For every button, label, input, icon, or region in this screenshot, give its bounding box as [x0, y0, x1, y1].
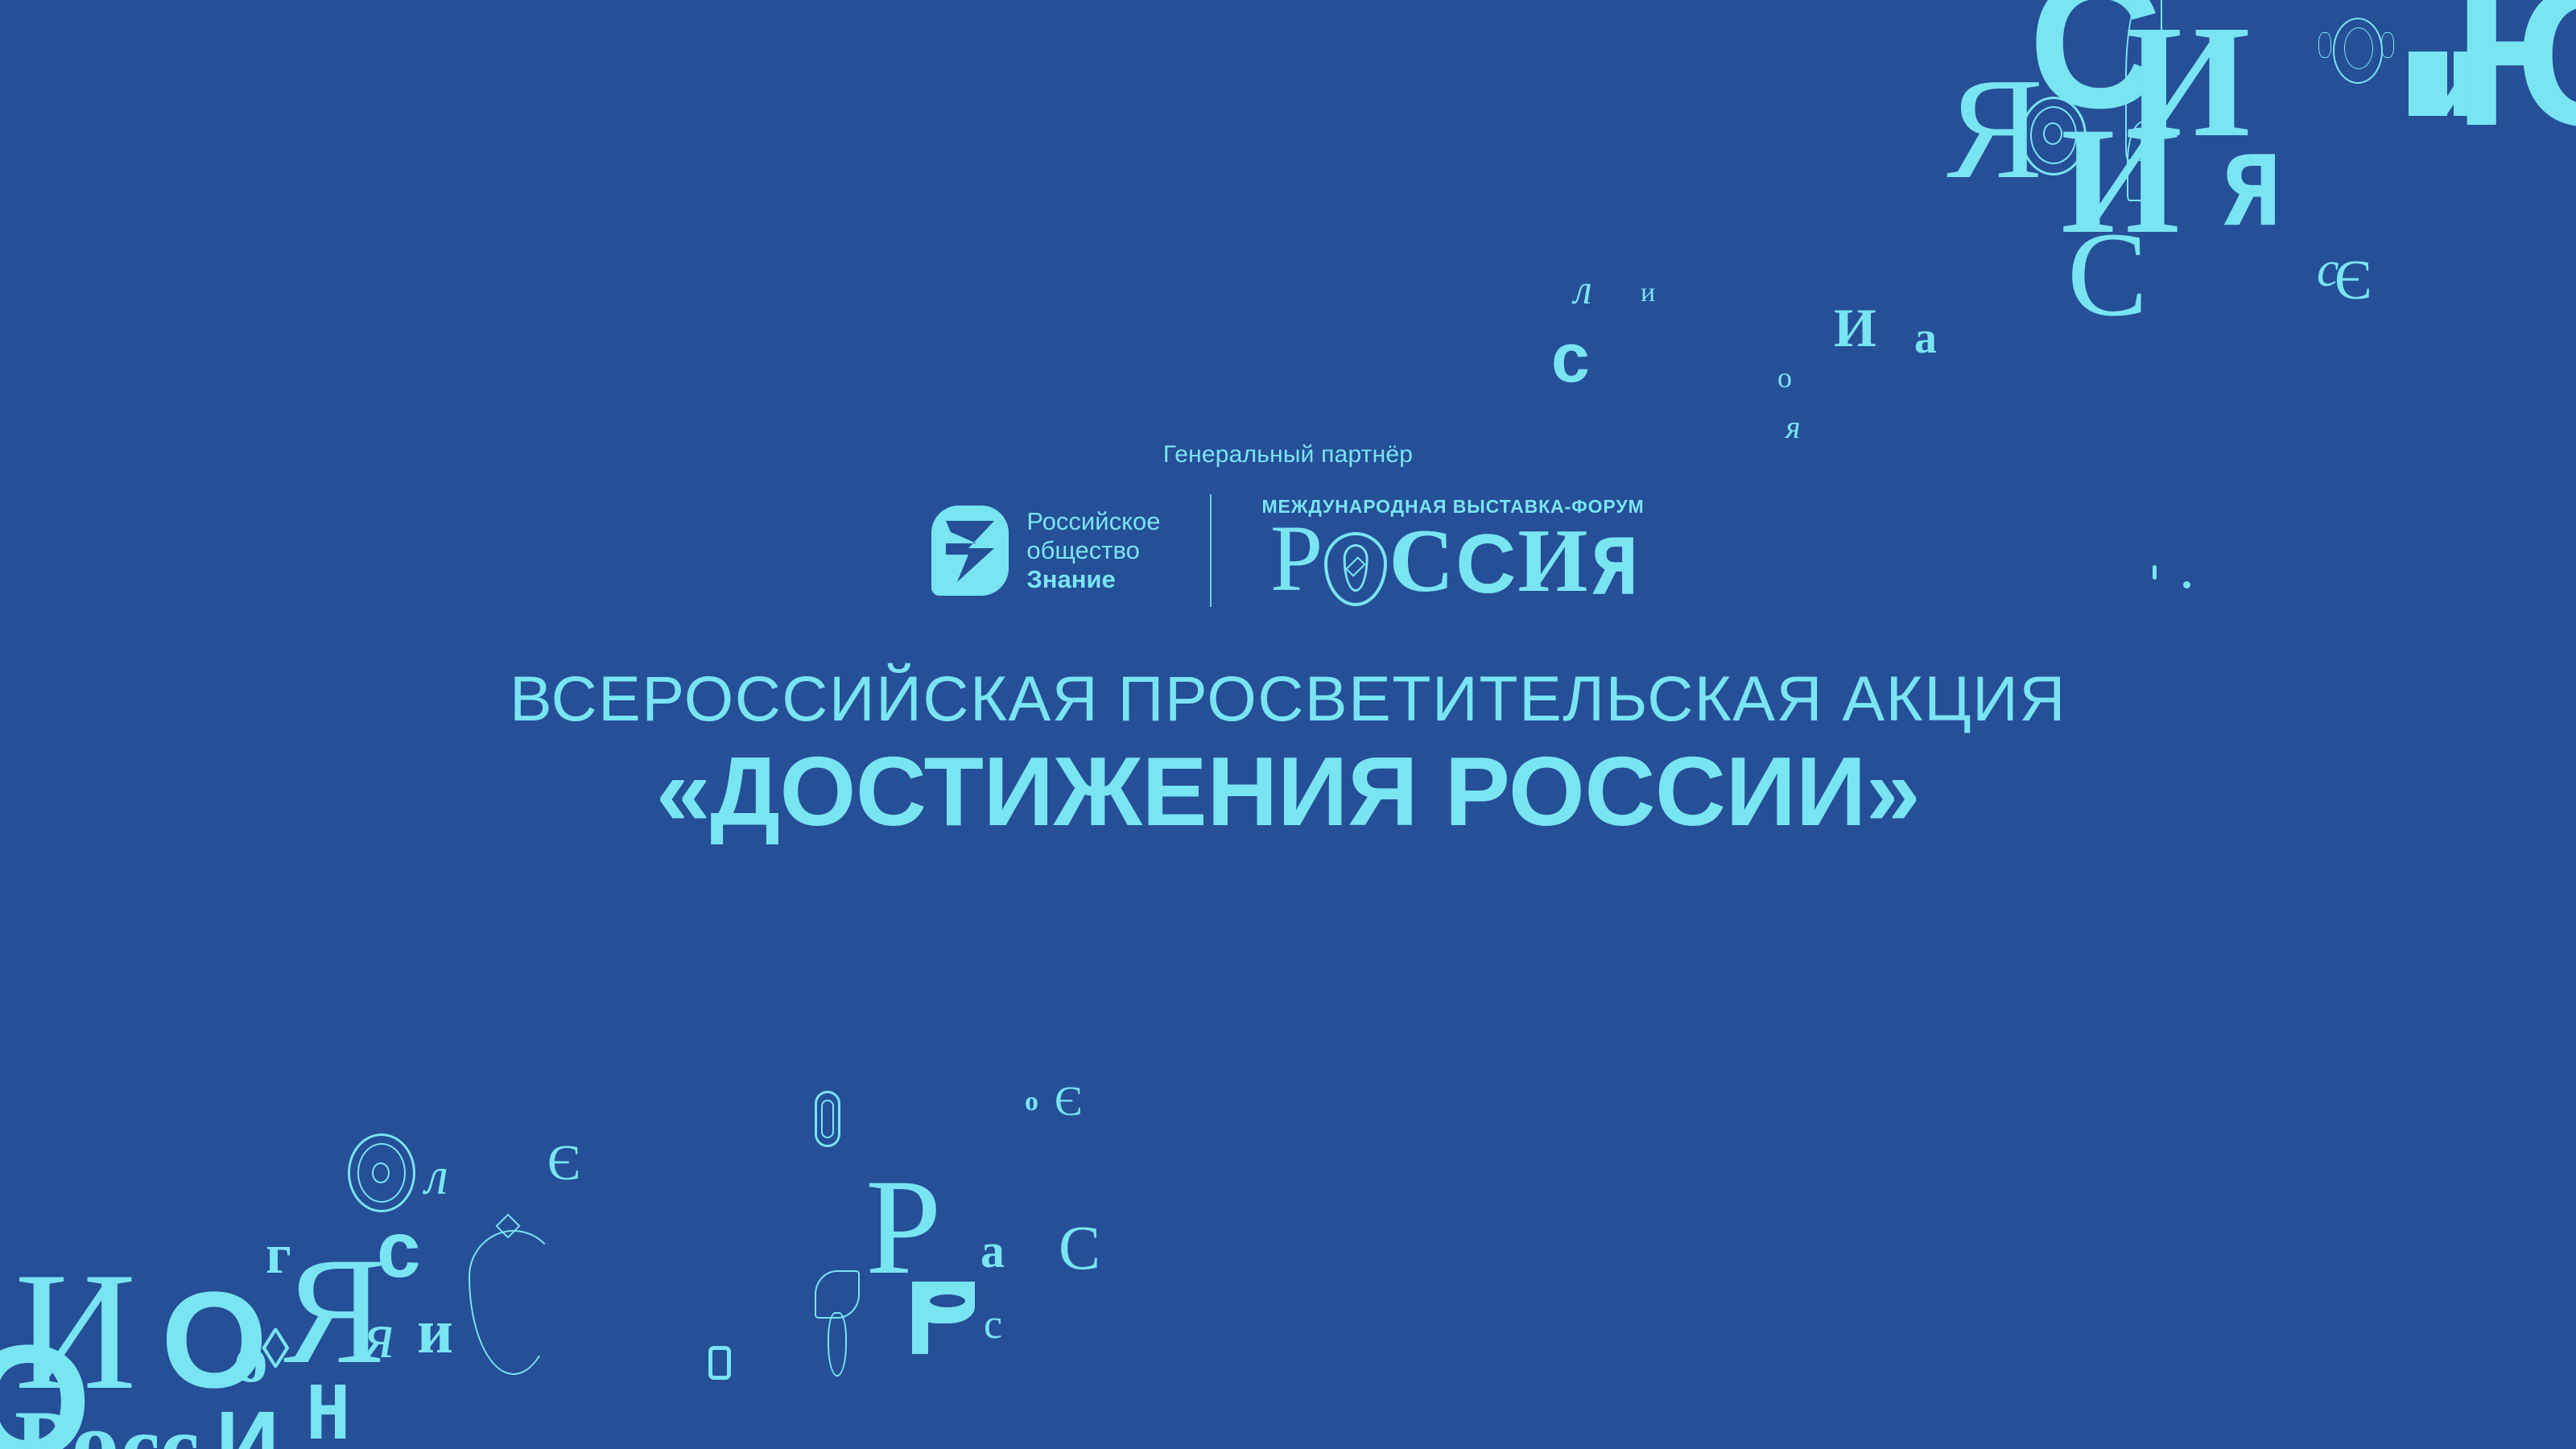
deco-square-o: [708, 1346, 731, 1380]
logo-divider: [1210, 494, 1212, 607]
poster-content: Генеральный партнёр Российское общество …: [0, 0, 2576, 843]
rossiya-ornate-o-icon: [1324, 532, 1387, 606]
deco-glyph-r-script: Р: [865, 1171, 942, 1283]
deco-glyph-l-bottomleft: л: [425, 1155, 448, 1199]
deco-glyph-s-bl-large: с: [377, 1217, 421, 1282]
deco-glyph-ya-bl-large: Я: [283, 1249, 386, 1375]
rossiya-letter-i: И: [1517, 516, 1587, 606]
deco-glyph-c-bottom: Є: [1055, 1085, 1082, 1120]
znanie-line-1: Российское: [1026, 507, 1160, 536]
deco-glyph-ss-edge: сс: [121, 1410, 200, 1449]
headline-block: ВСЕРОССИЙСКАЯ ПРОСВЕТИТЕЛЬСКАЯ АКЦИЯ «ДО…: [0, 667, 2576, 843]
deco-scribble-o-inner: [372, 1162, 390, 1183]
deco-scribble-o-outer: [348, 1133, 415, 1212]
deco-glyph-i-edge: И: [216, 1407, 279, 1449]
rossiya-letter-ya: Я: [1590, 529, 1637, 606]
deco-scribble-o-mid: [357, 1143, 406, 1203]
znanie-line-2: общество: [1026, 536, 1160, 565]
deco-glyph-r-bowl: [912, 1282, 975, 1323]
deco-capsule-o: [815, 1091, 840, 1147]
deco-ornament-f-top: [815, 1270, 860, 1319]
logos-row: Российское общество Знание МЕЖДУНАРОДНАЯ…: [0, 494, 2576, 607]
deco-glyph-o-edge: О: [0, 1336, 92, 1449]
znanie-wordmark: Российское общество Знание: [1026, 507, 1160, 595]
deco-glyph-o-bl-leaf: ◊: [262, 1327, 290, 1373]
rossiya-wordmark: Р С С И Я: [1261, 529, 1644, 606]
rossiya-letter-r: Р: [1270, 511, 1323, 606]
deco-glyph-a-bottom: а: [980, 1232, 1005, 1271]
deco-glyph-r-counter: [930, 1294, 965, 1307]
znanie-bolt-icon: [944, 519, 996, 584]
deco-glyph-c-swirl-bottom: С: [1059, 1222, 1100, 1274]
deco-capsule-o-inner: [821, 1100, 834, 1138]
general-partner-label: Генеральный партнёр: [0, 0, 2576, 469]
deco-glyph-i-bl: И: [14, 1262, 137, 1401]
rossiya-letter-s2: С: [1455, 522, 1516, 606]
znanie-logo[interactable]: Российское общество Знание: [931, 506, 1160, 596]
deco-ornate-s-finial-top: [495, 1213, 520, 1238]
deco-glyph-g-bl: г: [266, 1232, 291, 1278]
deco-ornament-f-stem: [828, 1312, 847, 1377]
deco-glyph-o-dot: о: [1025, 1091, 1038, 1113]
deco-glyph-c-bl: Є: [547, 1143, 580, 1184]
deco-glyph-ya-bl-small: я: [364, 1308, 394, 1362]
rossiya-logo[interactable]: МЕЖДУНАРОДНАЯ ВЫСТАВКА-ФОРУМ Р С С И Я: [1261, 496, 1644, 606]
poster-canvas: С И Ю Я И Я С с Є л и с И о я а: [0, 0, 2576, 1449]
headline-line-2: «ДОСТИЖЕНИЯ РОССИИ»: [0, 740, 2576, 843]
znanie-mark-icon: [931, 506, 1009, 596]
deco-glyph-r-edge: Ро: [14, 1405, 119, 1449]
headline-line-1: ВСЕРОССИЙСКАЯ ПРОСВЕТИТЕЛЬСКАЯ АКЦИЯ: [0, 667, 2576, 732]
znanie-line-3: Знание: [1026, 565, 1160, 594]
rossiya-letter-s1: С: [1389, 516, 1454, 606]
deco-glyph-n-pixel: Н: [306, 1383, 350, 1443]
rossiya-letter-o: [1324, 532, 1387, 606]
deco-glyph-r-solid: [912, 1282, 928, 1354]
deco-ornate-s-body: [469, 1230, 559, 1375]
deco-glyph-i-bl-small: и: [417, 1306, 453, 1357]
deco-glyph-o-bl-small: о: [233, 1330, 268, 1387]
deco-glyph-o-bl-ring: О: [161, 1285, 267, 1397]
deco-glyph-s-bottom-small: с: [984, 1308, 1002, 1343]
